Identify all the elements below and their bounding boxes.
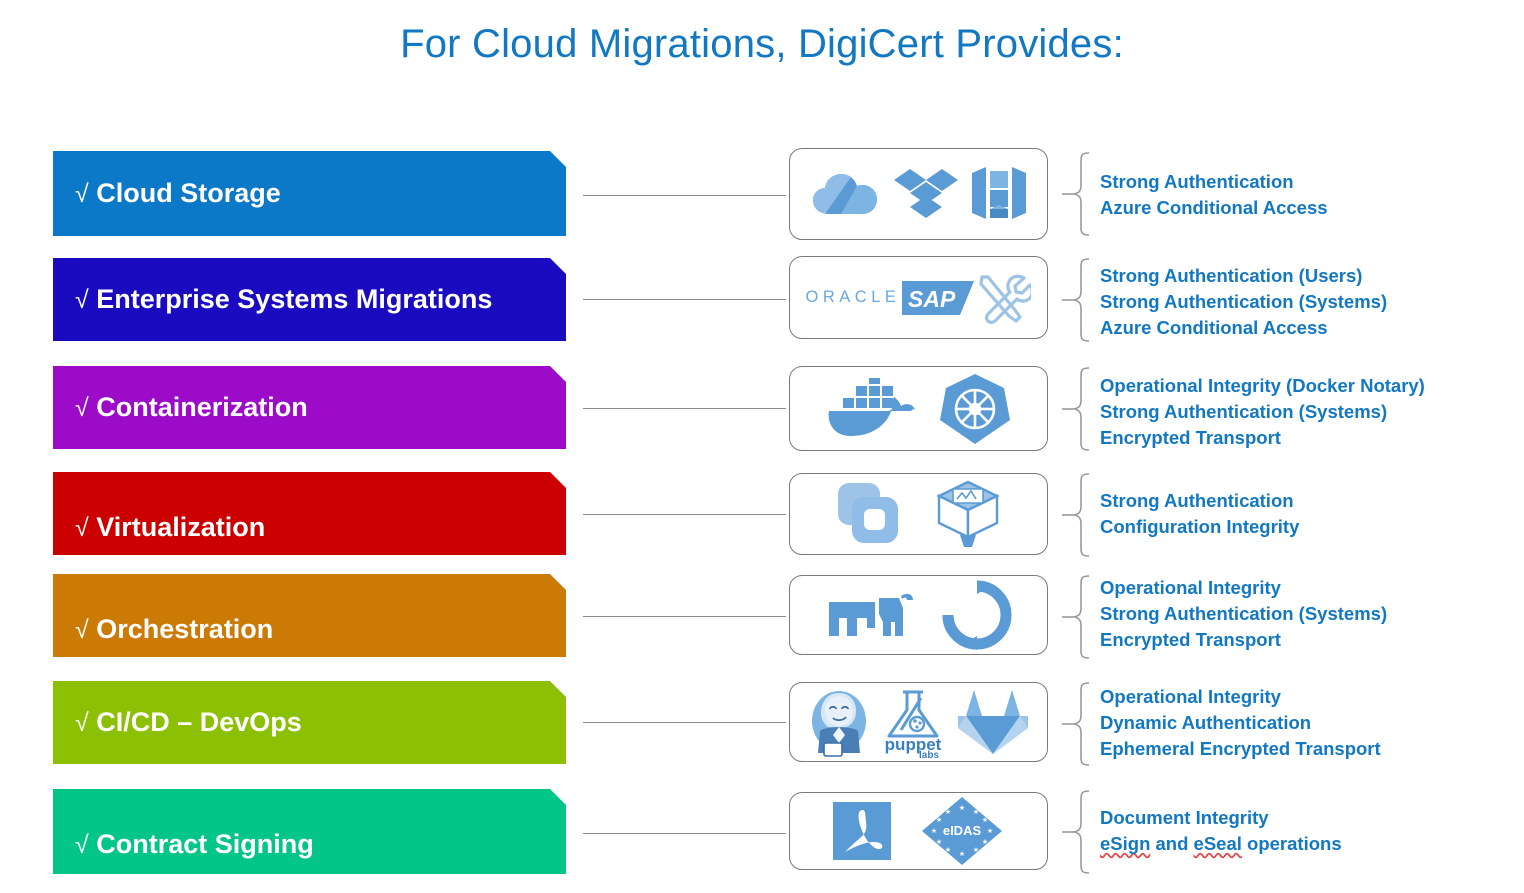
svg-text:★: ★	[982, 816, 988, 824]
banner-cicd-devops[interactable]: √ CI/CD – DevOps	[53, 681, 566, 764]
note-line: Ephemeral Encrypted Transport	[1100, 736, 1381, 762]
brace-connector	[1062, 366, 1092, 452]
notes-enterprise: Strong Authentication (Users) Strong Aut…	[1100, 263, 1387, 341]
gitlab-icon	[956, 688, 1030, 756]
icon-card-orchestration	[789, 575, 1048, 655]
icon-card-enterprise: ORACLE SAP	[789, 256, 1048, 339]
svg-text:★: ★	[931, 827, 937, 835]
misspelled-word: eSeal	[1194, 833, 1242, 854]
kubernetes-icon	[938, 372, 1012, 446]
eidas-icon: ★ ★ ★ ★ ★ ★ ★ ★ ★ ★ ★ ★ eIDAS	[920, 795, 1004, 867]
svg-text:★: ★	[973, 808, 979, 816]
note-line: Strong Authentication	[1100, 169, 1328, 195]
icon-card-cloud-storage	[789, 148, 1048, 240]
banner-cloud-storage[interactable]: √ Cloud Storage	[53, 151, 566, 236]
note-line: Strong Authentication (Systems)	[1100, 289, 1387, 315]
notes-orchestration: Operational Integrity Strong Authenticat…	[1100, 575, 1387, 653]
dropbox-icon	[894, 166, 958, 222]
banner-label: √ Contract Signing	[75, 831, 314, 858]
connector-line	[583, 408, 786, 409]
note-line: Dynamic Authentication	[1100, 710, 1381, 736]
svg-text:★: ★	[959, 850, 965, 858]
connector-line	[583, 616, 786, 617]
svg-text:★: ★	[987, 827, 993, 835]
svg-text:★: ★	[945, 846, 951, 854]
svg-text:★: ★	[936, 816, 942, 824]
oracle-logo: ORACLE	[806, 288, 901, 307]
chef-ox-icon	[825, 588, 921, 642]
banner-label: √ Enterprise Systems Migrations	[75, 286, 492, 313]
banner-label: √ CI/CD – DevOps	[75, 709, 302, 736]
note-line: Azure Conditional Access	[1100, 315, 1387, 341]
svg-text:★: ★	[982, 838, 988, 846]
virtualbox-icon	[935, 479, 1001, 549]
banner-enterprise-systems-migrations[interactable]: √ Enterprise Systems Migrations	[53, 258, 566, 341]
banner-label: √ Cloud Storage	[75, 180, 281, 207]
note-line: Document Integrity	[1100, 805, 1342, 831]
connector-line	[583, 722, 786, 723]
brace-connector	[1062, 257, 1092, 343]
brace-connector	[1062, 681, 1092, 767]
icon-card-contract-signing: ★ ★ ★ ★ ★ ★ ★ ★ ★ ★ ★ ★ eIDAS	[789, 792, 1048, 870]
banner-virtualization[interactable]: √ Virtualization	[53, 472, 566, 555]
slide-canvas: For Cloud Migrations, DigiCert Provides:…	[0, 0, 1524, 893]
icon-card-virtualization	[789, 473, 1048, 555]
banner-contract-signing[interactable]: √ Contract Signing	[53, 789, 566, 874]
connector-line	[583, 833, 786, 834]
docker-icon	[825, 378, 917, 440]
note-line: Encrypted Transport	[1100, 627, 1387, 653]
icon-card-cicd: puppet labs	[789, 682, 1048, 762]
adobe-acrobat-icon	[833, 802, 891, 860]
notes-cloud-storage: Strong Authentication Azure Conditional …	[1100, 169, 1328, 221]
note-line-spellcheck: eSign and eSeal operations	[1100, 831, 1342, 857]
banner-orchestration[interactable]: √ Orchestration	[53, 574, 566, 657]
note-line: Operational Integrity (Docker Notary)	[1100, 373, 1425, 399]
icon-card-containerization	[789, 366, 1048, 451]
ansible-cycle-icon	[942, 580, 1012, 650]
jenkins-icon	[808, 687, 870, 757]
connector-line	[583, 195, 786, 196]
note-line: Configuration Integrity	[1100, 514, 1299, 540]
notes-containerization: Operational Integrity (Docker Notary) St…	[1100, 373, 1425, 451]
brace-connector	[1062, 574, 1092, 660]
note-line: Operational Integrity	[1100, 575, 1387, 601]
brace-connector	[1062, 472, 1092, 558]
svg-text:★: ★	[973, 846, 979, 854]
banner-label: √ Virtualization	[75, 514, 265, 541]
note-line: Operational Integrity	[1100, 684, 1381, 710]
notes-virtualization: Strong Authentication Configuration Inte…	[1100, 488, 1299, 540]
svg-text:★: ★	[959, 804, 965, 812]
misspelled-word: eSign	[1100, 833, 1150, 854]
banner-containerization[interactable]: √ Containerization	[53, 366, 566, 449]
note-line: Strong Authentication	[1100, 488, 1299, 514]
tools-icon	[975, 272, 1031, 324]
aws-s3-icon	[972, 165, 1026, 223]
connector-line	[583, 514, 786, 515]
onedrive-icon	[811, 170, 881, 218]
brace-connector	[1062, 151, 1092, 237]
brace-connector	[1062, 789, 1092, 875]
svg-text:★: ★	[945, 808, 951, 816]
notes-cicd: Operational Integrity Dynamic Authentica…	[1100, 684, 1381, 762]
banner-label: √ Containerization	[75, 394, 308, 421]
note-line: Encrypted Transport	[1100, 425, 1425, 451]
banner-label: √ Orchestration	[75, 616, 273, 643]
svg-text:SAP: SAP	[908, 286, 956, 312]
svg-text:labs: labs	[918, 750, 938, 758]
puppet-labs-logo: puppet labs	[877, 686, 949, 758]
notes-contract-signing: Document Integrity eSign and eSeal opera…	[1100, 805, 1342, 857]
note-line: Strong Authentication (Systems)	[1100, 399, 1425, 425]
sap-logo: SAP	[902, 279, 974, 317]
svg-text:eIDAS: eIDAS	[943, 823, 982, 838]
note-line: Azure Conditional Access	[1100, 195, 1328, 221]
connector-line	[583, 299, 786, 300]
svg-text:★: ★	[936, 838, 942, 846]
vmware-icon	[836, 481, 902, 547]
page-title: For Cloud Migrations, DigiCert Provides:	[0, 22, 1524, 67]
note-line: Strong Authentication (Systems)	[1100, 601, 1387, 627]
note-line: Strong Authentication (Users)	[1100, 263, 1387, 289]
